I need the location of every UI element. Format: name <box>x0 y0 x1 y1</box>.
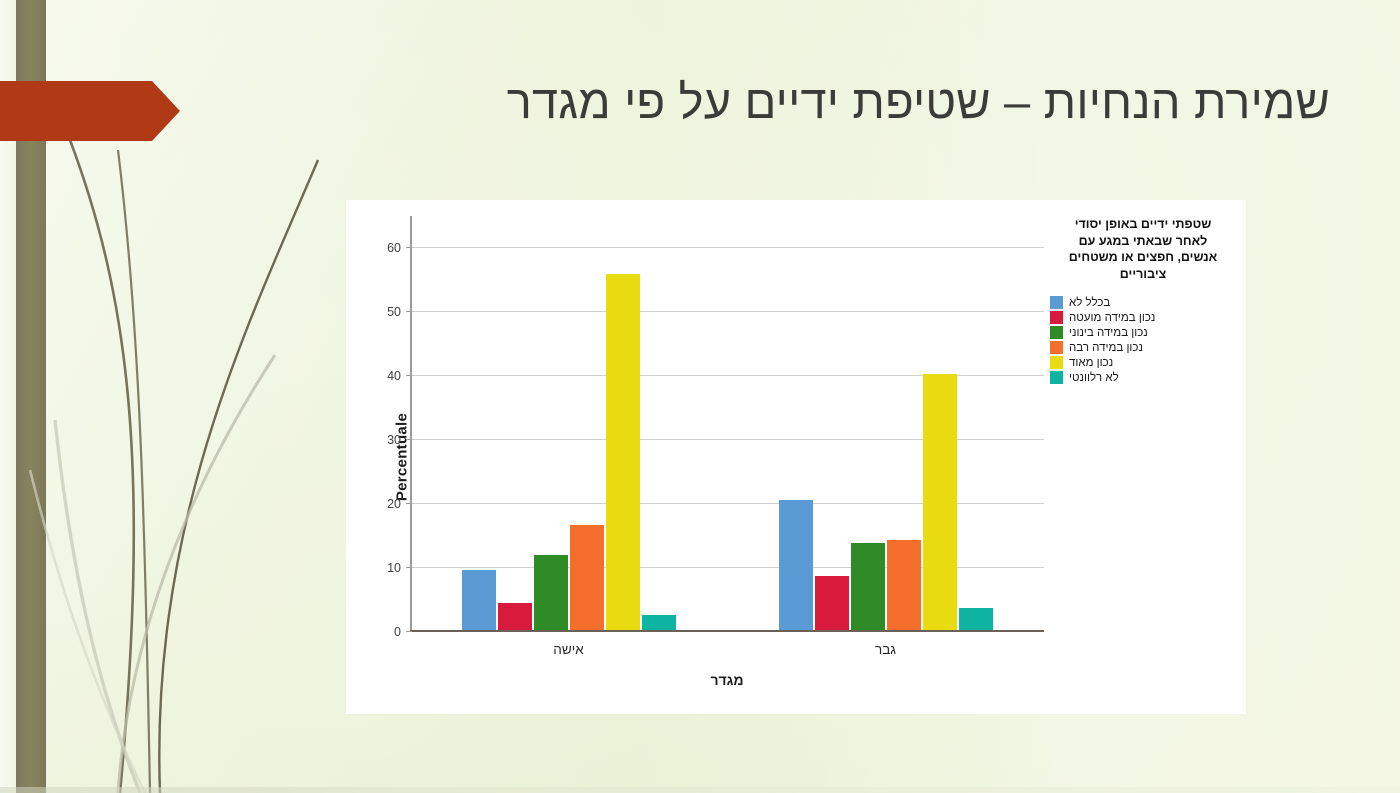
legend-items: בכלל לאנכון במידה מועטהנכון במידה בינוני… <box>1050 296 1236 384</box>
bar[interactable] <box>959 608 993 630</box>
legend-swatch <box>1050 356 1063 369</box>
legend-swatch <box>1050 311 1063 324</box>
bar[interactable] <box>851 543 885 630</box>
y-tick-label: 0 <box>394 625 401 639</box>
legend-row[interactable]: נכון מאוד <box>1050 356 1113 369</box>
legend-row[interactable]: לא רלוונטי <box>1050 371 1119 384</box>
legend-swatch <box>1050 341 1063 354</box>
bar[interactable] <box>498 603 532 630</box>
y-tick-label: 60 <box>387 241 401 255</box>
bar[interactable] <box>779 500 813 630</box>
legend-label: לא רלוונטי <box>1069 372 1119 384</box>
slide: שמירת הנחיות – שטיפת ידיים על פי מגדר Pe… <box>0 0 1400 793</box>
legend-swatch <box>1050 326 1063 339</box>
chart-panel: Percentuale 0102030405060 אישהגבר מגדר ש… <box>346 200 1246 714</box>
x-category-label: גבר <box>727 642 1044 657</box>
y-tick-label: 40 <box>387 369 401 383</box>
legend-swatch <box>1050 296 1063 309</box>
legend-row[interactable]: נכון במידה רבה <box>1050 341 1143 354</box>
legend-row[interactable]: נכון במידה מועטה <box>1050 311 1155 324</box>
page-title: שמירת הנחיות – שטיפת ידיים על פי מגדר <box>200 74 1330 129</box>
x-axis-title: מגדר <box>410 672 1044 688</box>
chart-legend: שטפתי ידיים באופן יסודי לאחר שבאתי במגע … <box>1050 216 1236 384</box>
bar[interactable] <box>606 274 640 630</box>
bar[interactable] <box>815 576 849 630</box>
y-tick-label: 50 <box>387 305 401 319</box>
y-tick-label: 10 <box>387 561 401 575</box>
bar[interactable] <box>642 615 676 630</box>
legend-title: שטפתי ידיים באופן יסודי לאחר שבאתי במגע … <box>1050 216 1236 282</box>
legend-row[interactable]: נכון במידה בינוני <box>1050 326 1148 339</box>
legend-label: נכון במידה בינוני <box>1069 327 1148 339</box>
gridline <box>412 631 1044 632</box>
legend-label: נכון במידה מועטה <box>1069 312 1155 324</box>
y-tick-mark <box>406 631 412 632</box>
bar[interactable] <box>923 374 957 630</box>
legend-label: נכון במידה רבה <box>1069 342 1143 354</box>
bottom-strip <box>0 787 1400 793</box>
bar[interactable] <box>534 555 568 630</box>
y-tick-label: 30 <box>387 433 401 447</box>
title-arrow-banner <box>0 81 180 141</box>
legend-label: בכלל לא <box>1069 297 1110 309</box>
bar-group: אישה <box>410 216 727 630</box>
bar[interactable] <box>570 525 604 630</box>
x-category-label: אישה <box>410 642 727 657</box>
legend-swatch <box>1050 371 1063 384</box>
legend-row[interactable]: בכלל לא <box>1050 296 1110 309</box>
bar-group: גבר <box>727 216 1044 630</box>
y-axis-title: Percentuale <box>394 413 411 501</box>
plot-area: 0102030405060 אישהגבר <box>410 216 1044 632</box>
legend-label: נכון מאוד <box>1069 357 1113 369</box>
y-tick-label: 20 <box>387 497 401 511</box>
bar[interactable] <box>462 570 496 631</box>
bar[interactable] <box>887 540 921 630</box>
